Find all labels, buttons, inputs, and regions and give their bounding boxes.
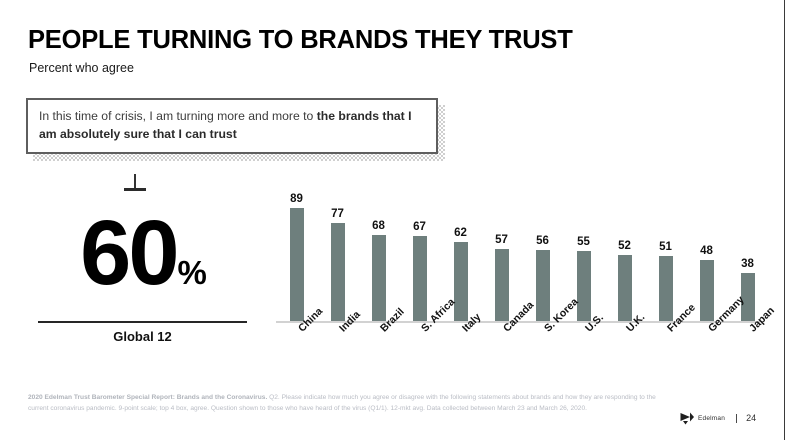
x-label-slot: India (317, 323, 358, 373)
footer-divider (736, 414, 737, 423)
slide-canvas: PEOPLE TURNING TO BRANDS THEY TRUST Perc… (0, 0, 785, 440)
quote-text: In this time of crisis, I am turning mor… (39, 108, 427, 143)
bar-value-label: 77 (331, 209, 344, 221)
bar-brazil[interactable] (372, 235, 386, 321)
bar-value-label: 48 (700, 246, 713, 258)
bar-u-k[interactable] (618, 255, 632, 321)
x-label-slot: S. Korea (522, 323, 563, 373)
x-label-slot: Germany (686, 323, 727, 373)
bar-s-africa[interactable] (413, 236, 427, 321)
chart-x-axis-labels: ChinaIndiaBrazilS. AfricaItalyCanadaS. K… (276, 323, 760, 378)
global-average-stat: 60% (38, 214, 248, 309)
x-label-slot: Italy (440, 323, 481, 373)
x-label-slot: S. Africa (399, 323, 440, 373)
bar-slot: 52 (604, 190, 645, 321)
bar-slot: 48 (686, 190, 727, 321)
perpendicular-mark-icon (120, 174, 150, 196)
bar-chart: 897768676257565552514838 ChinaIndiaBrazi… (276, 190, 760, 325)
bar-canada[interactable] (495, 249, 509, 321)
bar-slot: 89 (276, 190, 317, 321)
bar-s-korea[interactable] (536, 250, 550, 321)
bar-value-label: 89 (290, 194, 303, 206)
bar-value-label: 68 (372, 221, 385, 233)
stat-label: Global 12 (38, 329, 247, 344)
bar-slot: 57 (481, 190, 522, 321)
x-label-slot: Japan (727, 323, 768, 373)
bar-france[interactable] (659, 256, 673, 321)
bar-slot: 67 (399, 190, 440, 321)
perpendicular-base (124, 188, 146, 191)
bar-value-label: 56 (536, 236, 549, 248)
stat-divider (38, 321, 247, 323)
bar-slot: 77 (317, 190, 358, 321)
bar-slot: 68 (358, 190, 399, 321)
global-average-value: 60 (80, 214, 176, 292)
bar-value-label: 57 (495, 235, 508, 247)
bar-value-label: 62 (454, 228, 467, 240)
bar-india[interactable] (331, 223, 345, 321)
x-label-slot: U.K. (604, 323, 645, 373)
footnote: 2020 Edelman Trust Barometer Special Rep… (28, 393, 668, 414)
edelman-wordmark: Edelman (698, 415, 725, 422)
x-label-slot: Brazil (358, 323, 399, 373)
x-label-slot: France (645, 323, 686, 373)
perpendicular-stem (134, 174, 136, 189)
page-title: PEOPLE TURNING TO BRANDS THEY TRUST (28, 27, 573, 54)
quote-lead: In this time of crisis, I am turning mor… (39, 109, 317, 123)
bar-value-label: 38 (741, 259, 754, 271)
global-average-unit: % (178, 256, 206, 289)
bar-u-s[interactable] (577, 251, 591, 321)
bar-value-label: 55 (577, 237, 590, 249)
bar-china[interactable] (290, 208, 304, 321)
bar-slot: 51 (645, 190, 686, 321)
bar-value-label: 51 (659, 242, 672, 254)
page-subtitle: Percent who agree (29, 61, 134, 75)
x-label-slot: Canada (481, 323, 522, 373)
bar-value-label: 67 (413, 222, 426, 234)
x-label-slot: China (276, 323, 317, 373)
quote-box: In this time of crisis, I am turning mor… (26, 98, 438, 154)
bar-italy[interactable] (454, 242, 468, 321)
x-label-slot: U.S. (563, 323, 604, 373)
footnote-source: 2020 Edelman Trust Barometer Special Rep… (28, 394, 267, 401)
quote-callout: In this time of crisis, I am turning mor… (26, 98, 438, 154)
edelman-dart-logo-icon: Edelman (680, 412, 725, 425)
footer-branding: Edelman 24 (680, 409, 756, 427)
page-number: 24 (746, 413, 756, 423)
bar-value-label: 52 (618, 241, 631, 253)
bar-germany[interactable] (700, 260, 714, 321)
